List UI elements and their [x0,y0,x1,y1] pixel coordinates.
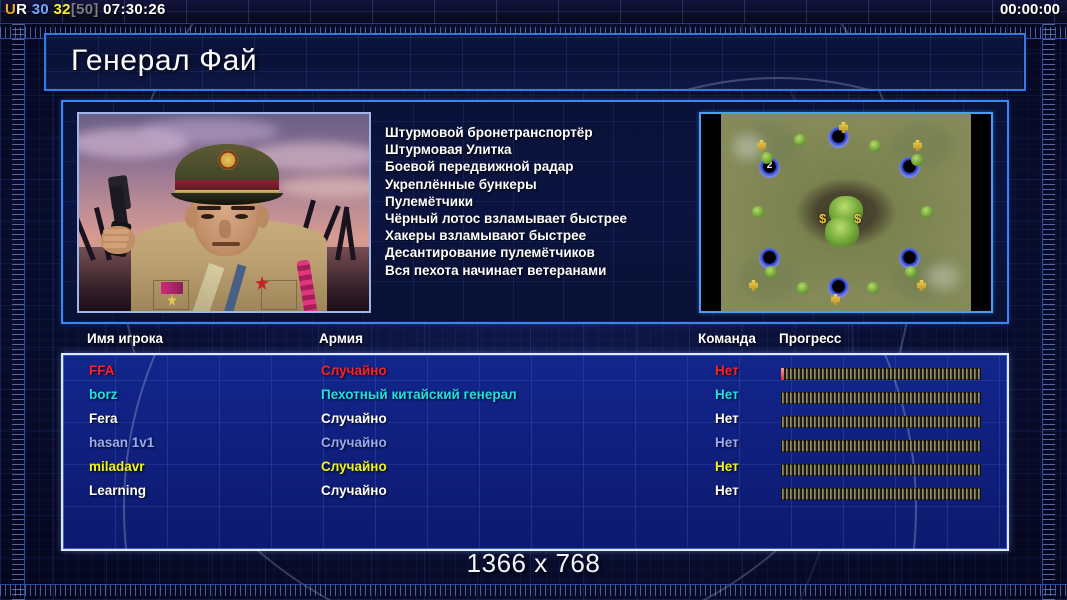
map-tree [761,152,773,164]
ability-item: Штурмовой бронетранспортёр [385,124,715,141]
player-name: borz [89,387,118,402]
portrait-brow-left [197,206,221,210]
portrait-finger-2 [103,236,129,241]
map-supply-icon: $ [819,212,832,226]
map-tree [921,206,933,218]
ruler-right [1042,24,1055,600]
topbar-timer: 00:00:00 [1000,1,1060,18]
topbar-bracket: [50] [71,1,99,18]
ability-item: Чёрный лотос взламывает быстрее [385,210,715,227]
topbar-divider [0,23,1067,24]
map-tree [911,154,923,166]
portrait-eye-right [235,214,248,219]
player-progress-marker [781,368,784,380]
column-header-army: Армия [319,331,363,346]
topbar-num1: 30 [32,1,49,18]
map-start-position [828,277,849,298]
portrait-medal-ribbon [161,282,183,294]
player-army: Случайно [321,363,387,378]
table-row[interactable]: borzПехотный китайский генералНет [63,387,1007,411]
portrait-cap-badge [218,150,238,170]
player-army: Случайно [321,435,387,450]
general-abilities-list: Штурмовой бронетранспортёр Штурмовая Ули… [385,124,715,279]
player-team: Нет [715,435,739,450]
table-row[interactable]: hasan 1v1СлучайноНет [63,435,1007,459]
topbar-num2: 32 [54,1,71,18]
portrait-ear-left [185,206,198,228]
player-army: Пехотный китайский генерал [321,387,517,402]
portrait-cloud-2 [139,118,279,144]
ruler-bottom [0,585,1067,596]
ability-item: Пулемётчики [385,193,715,210]
player-team: Нет [715,387,739,402]
player-team: Нет [715,363,739,378]
column-header-progress: Прогресс [779,331,841,346]
main-frame: Генерал Фай [44,33,1022,563]
player-progress-fill [781,416,981,428]
page-title: Генерал Фай [71,44,257,78]
column-header-player: Имя игрока [87,331,163,346]
topbar-r-label: R [16,1,27,18]
edge-line-left [24,24,25,600]
map-image: 2 $ $ [721,114,971,311]
ability-item: Укреплённые бункеры [385,176,715,193]
map-tree [797,282,809,294]
portrait-pocket-right [261,280,297,310]
portrait-eye-left [201,214,214,219]
edge-line-right [1042,24,1043,600]
player-team: Нет [715,483,739,498]
ability-item: Десантирование пулемётчиков [385,244,715,261]
map-tree [794,134,806,146]
portrait-finger-3 [103,243,127,248]
map-light-patch-2 [927,264,959,290]
ability-item: Штурмовая Улитка [385,141,715,158]
topbar-status-text: UR 30 32[50] 07:30:26 [5,1,166,18]
player-army: Случайно [321,483,387,498]
ability-item: Боевой передвижной радар [385,158,715,175]
topbar-u-label: U [5,1,16,18]
map-tree [869,140,881,152]
ability-item: Вся пехота начинает ветеранами [385,262,715,279]
table-row[interactable]: miladavrСлучайноНет [63,459,1007,483]
player-team: Нет [715,411,739,426]
portrait-ear-right [256,206,269,228]
map-tree [765,266,777,278]
portrait-brow-right [231,206,255,210]
player-name: Fera [89,411,118,426]
player-progress-bar [781,464,981,476]
player-army: Случайно [321,459,387,474]
player-progress-bar [781,392,981,404]
portrait-finger-1 [103,229,129,234]
player-army: Случайно [321,411,387,426]
top-status-bar: UR 30 32[50] 07:30:26 00:00:00 [0,0,1067,24]
player-progress-fill [781,488,981,500]
ability-item: Хакеры взламывают быстрее [385,227,715,244]
table-row[interactable]: FFAСлучайноНет [63,363,1007,387]
portrait-nose [219,220,231,238]
column-header-team: Команда [698,331,756,346]
topbar-clock: 07:30:26 [103,1,165,18]
player-list-panel: FFAСлучайноНетborzПехотный китайский ген… [61,353,1009,551]
table-row[interactable]: LearningСлучайноНет [63,483,1007,507]
player-name: hasan 1v1 [89,435,154,450]
resolution-label: 1366 x 768 [0,548,1067,579]
map-preview[interactable]: 2 $ $ [699,112,993,313]
player-team: Нет [715,459,739,474]
map-tree [905,266,917,278]
player-progress-bar [781,368,981,380]
player-progress-bar [781,440,981,452]
player-progress-fill [781,464,981,476]
map-supply-icon: $ [854,212,867,226]
edge-line-bottom [0,584,1067,585]
map-tree [752,206,764,218]
player-progress-fill [781,440,981,452]
player-progress-fill [781,392,981,404]
player-list-headers: Имя игрока Армия Команда Прогресс [61,331,1005,353]
player-progress-bar [781,488,981,500]
player-name: Learning [89,483,146,498]
general-info-panel: Штурмовой бронетранспортёр Штурмовая Ули… [61,100,1009,324]
player-name: FFA [89,363,115,378]
player-progress-fill [781,368,981,380]
table-row[interactable]: FeraСлучайноНет [63,411,1007,435]
game-lobby-screen: UR 30 32[50] 07:30:26 00:00:00 Генерал Ф… [0,0,1067,600]
player-name: miladavr [89,459,145,474]
map-tree [867,282,879,294]
portrait-mouth [212,242,240,246]
title-bar: Генерал Фай [44,33,1026,91]
player-progress-bar [781,416,981,428]
general-portrait [77,112,371,313]
